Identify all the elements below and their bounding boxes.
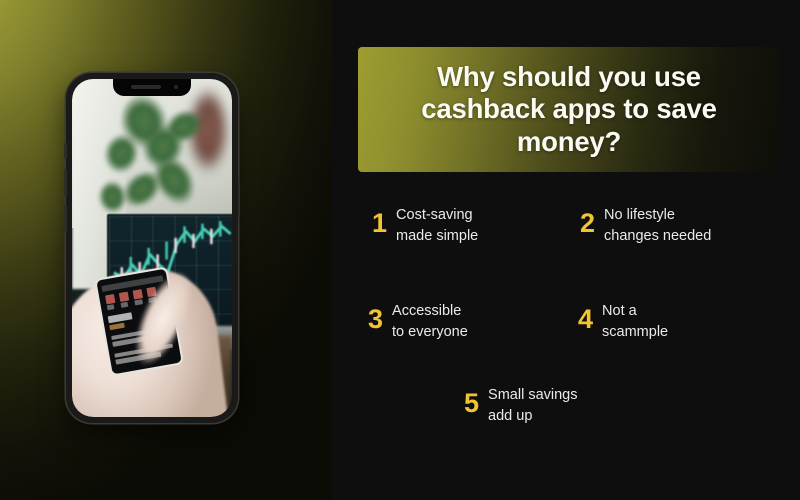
title-card: Why should you use cashback apps to save… (358, 47, 780, 172)
right-content-panel: Why should you use cashback apps to save… (332, 0, 800, 500)
phone-volume-down-button (64, 205, 67, 233)
list-item-number: 1 (372, 200, 387, 237)
phone-notch (113, 79, 191, 96)
phone-screen (72, 79, 232, 417)
phone-front-camera-icon (174, 85, 178, 89)
held-phone-ticker (119, 291, 129, 301)
held-phone-headline (108, 312, 133, 323)
phone-bezel (72, 79, 232, 417)
phone-mockup (66, 73, 238, 423)
infographic-canvas: Why should you use cashback apps to save… (0, 0, 800, 500)
benefits-list: 1 Cost-saving made simple 2 No lifestyle… (332, 192, 800, 452)
held-phone-ticker (105, 294, 115, 304)
list-item-1: 1 Cost-saving made simple (372, 200, 478, 248)
phone-power-button (238, 177, 241, 217)
list-item-number: 4 (578, 296, 593, 333)
phone-volume-up-button (64, 169, 67, 197)
held-phone-ticker (133, 289, 143, 299)
list-item-2: 2 No lifestyle changes needed (580, 200, 711, 248)
held-phone-ticker-value (121, 302, 129, 308)
list-item-label: Small savings add up (488, 380, 577, 428)
list-item-number: 3 (368, 296, 383, 333)
left-image-panel (0, 0, 332, 500)
phone-mute-switch (64, 143, 67, 159)
page-title: Why should you use cashback apps to save… (376, 61, 762, 158)
screen-photo (72, 79, 232, 417)
held-phone-ticker-value (107, 304, 115, 310)
list-item-4: 4 Not a scammple (578, 296, 668, 344)
list-item-number: 2 (580, 200, 595, 237)
list-item-label: Accessible to everyone (392, 296, 468, 344)
phone-earpiece-icon (131, 85, 161, 89)
list-item-label: Not a scammple (602, 296, 668, 344)
list-item-label: No lifestyle changes needed (604, 200, 711, 248)
list-item-label: Cost-saving made simple (396, 200, 478, 248)
held-phone-ticker-value (135, 299, 143, 305)
list-item-3: 3 Accessible to everyone (368, 296, 468, 344)
held-phone-subhead (110, 323, 126, 330)
list-item-5: 5 Small savings add up (464, 380, 577, 428)
list-item-number: 5 (464, 380, 479, 417)
